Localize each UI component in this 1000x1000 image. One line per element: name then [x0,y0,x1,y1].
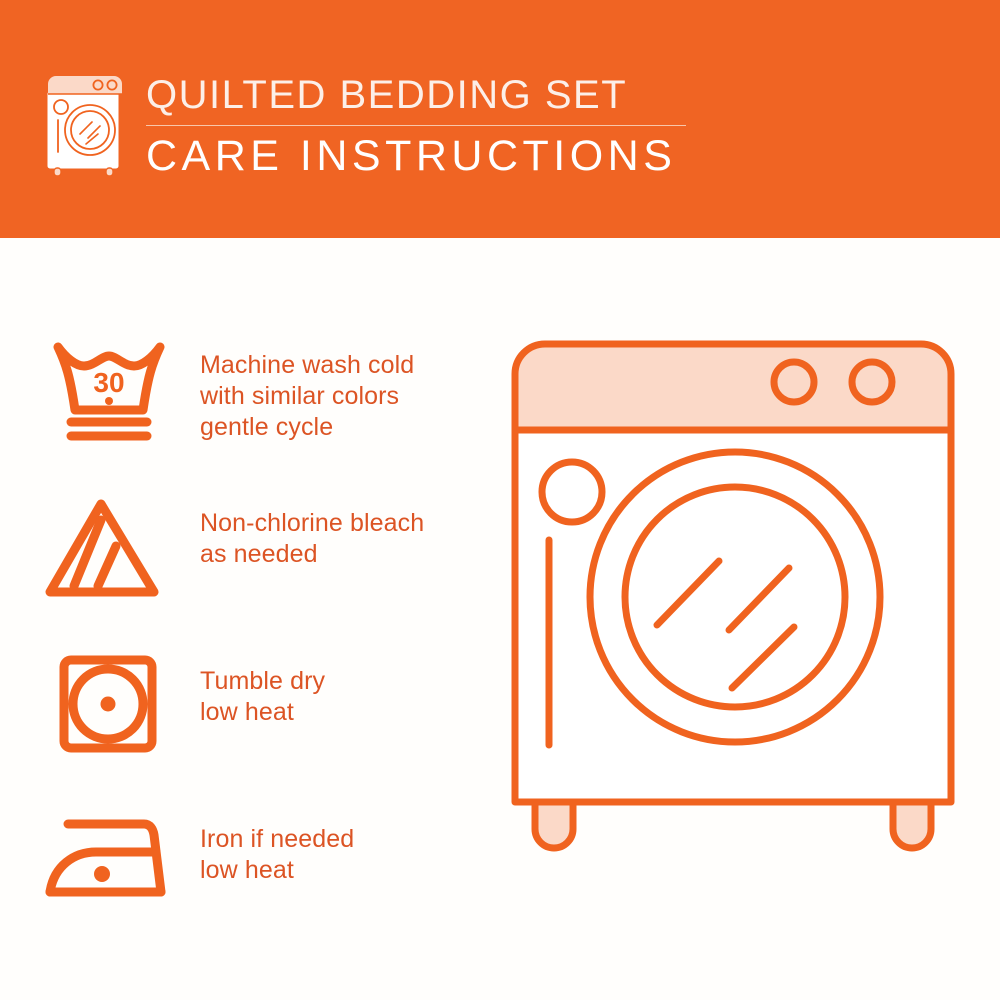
iron-low-heat-icon [44,804,174,922]
care-label-line: Iron if needed [200,824,480,855]
care-label-line: gentle cycle [200,412,480,443]
care-label-line: low heat [200,855,480,886]
care-label-bleach: Non-chlorine bleach as needed [200,508,480,570]
care-row-bleach: Non-chlorine bleach as needed [0,488,480,646]
front-load-washing-machine-illustration [487,330,977,940]
header-text-block: QUILTED BEDDING SET CARE INSTRUCTIONS [146,72,706,180]
care-label-iron: Iron if needed low heat [200,824,480,886]
care-label-line: Tumble dry [200,666,480,697]
care-label-line: Non-chlorine bleach [200,508,480,539]
page-subtitle: CARE INSTRUCTIONS [146,132,706,180]
title-divider [146,125,686,126]
care-label-line: with similar colors [200,381,480,412]
care-label-machine-wash: Machine wash cold with similar colors ge… [200,350,480,443]
washing-machine-icon [44,72,126,176]
care-row-iron: Iron if needed low heat [0,804,480,962]
care-row-machine-wash: 30 Machine wash cold with similar colors… [0,330,480,488]
header-banner: QUILTED BEDDING SET CARE INSTRUCTIONS [0,0,1000,238]
care-label-line: Machine wash cold [200,350,480,381]
non-chlorine-bleach-triangle-icon [44,488,174,606]
care-row-tumble-dry: Tumble dry low heat [0,646,480,804]
care-label-line: low heat [200,697,480,728]
care-label-line: as needed [200,539,480,570]
care-instructions-list: 30 Machine wash cold with similar colors… [0,330,480,962]
tumble-dry-low-heat-icon [44,646,174,764]
page-title: QUILTED BEDDING SET [146,72,706,118]
wash-temperature-value: 30 [93,367,124,398]
care-instructions-page: QUILTED BEDDING SET CARE INSTRUCTIONS [0,0,1000,1000]
care-label-tumble-dry: Tumble dry low heat [200,666,480,728]
wash-tub-30-icon: 30 [44,330,174,448]
